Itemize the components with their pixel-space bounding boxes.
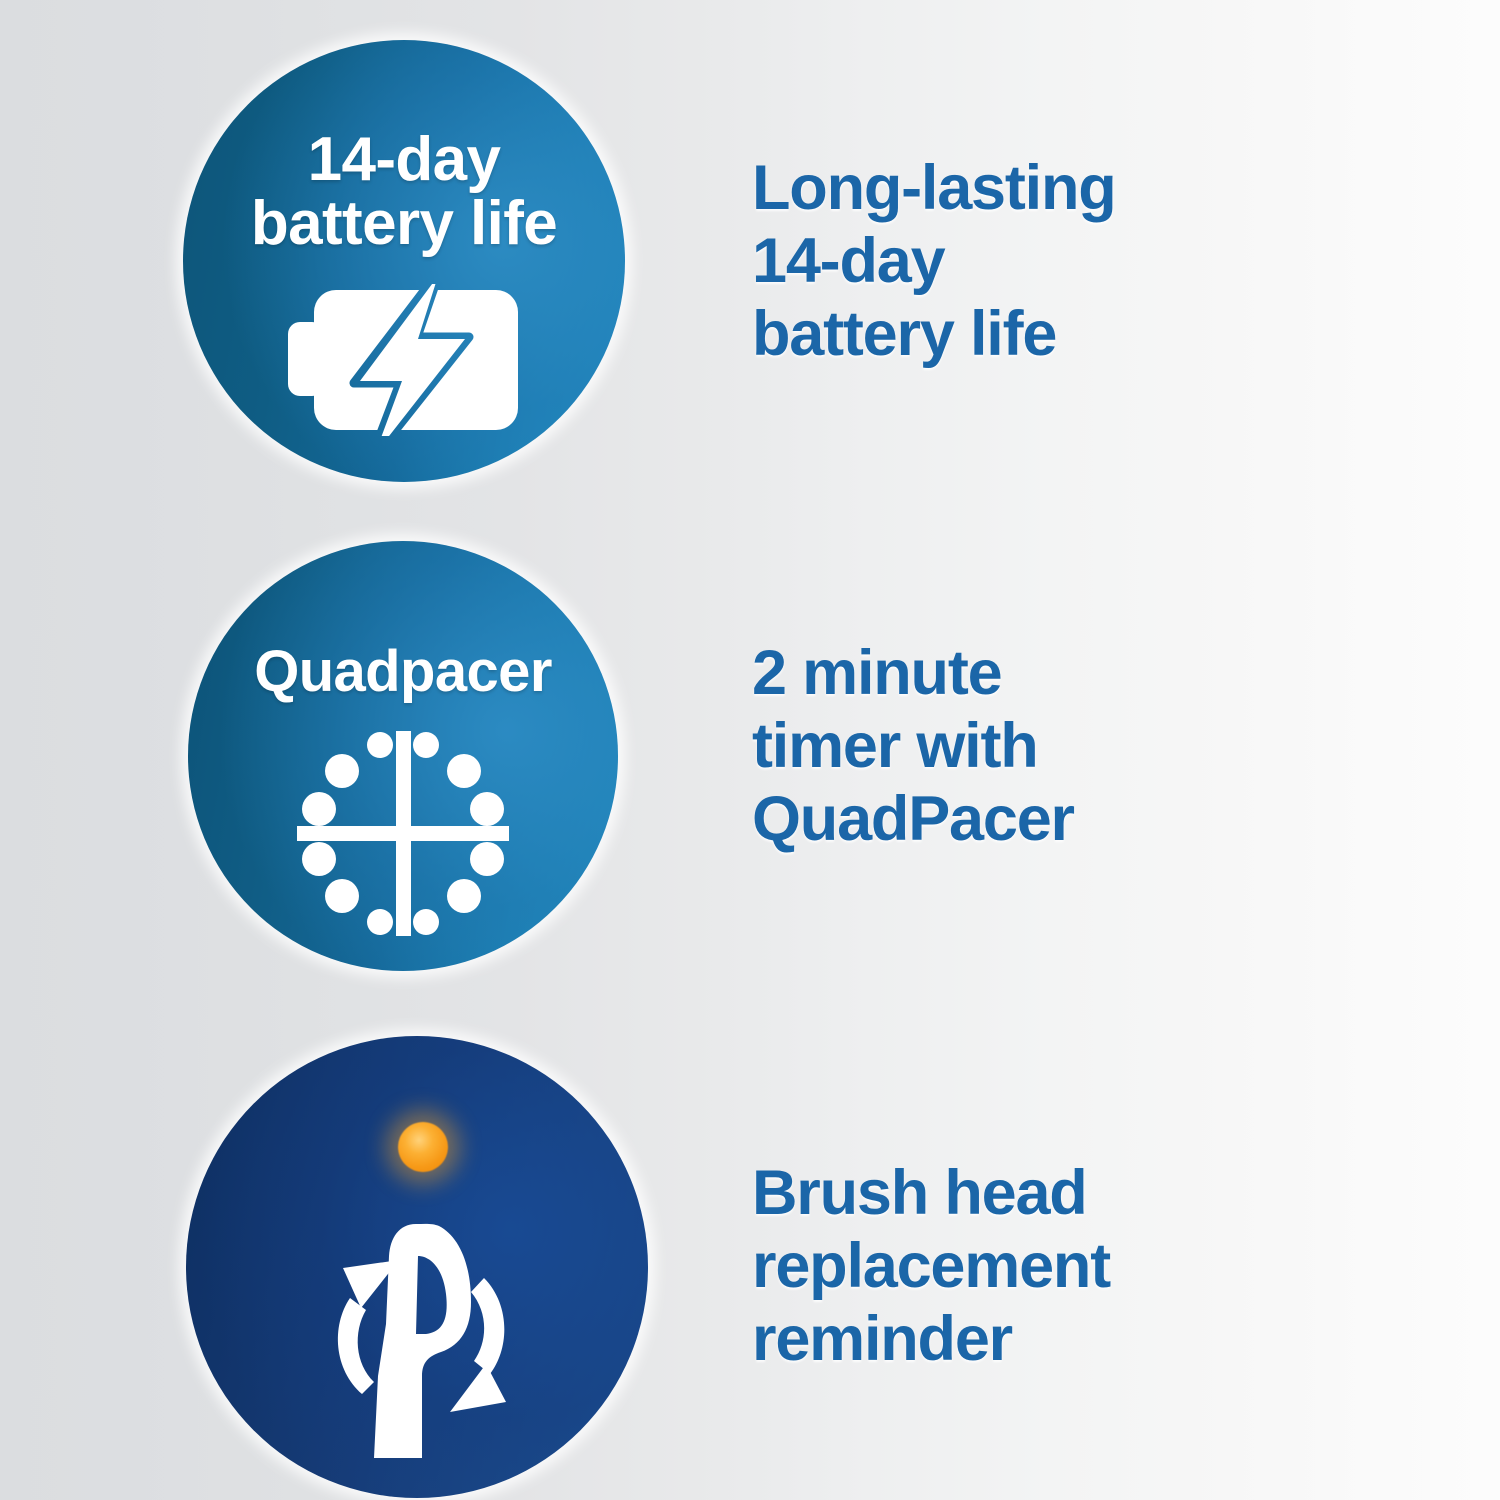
quadpacer-cross-dots-icon <box>297 731 509 936</box>
badge-quadpacer-icon-slot <box>188 726 618 941</box>
battery-bolt-icon <box>288 284 520 436</box>
badge-battery-life: 14-day battery life <box>183 40 625 482</box>
brush-head-replacement-icon <box>298 1216 536 1466</box>
orange-reminder-light-icon <box>398 1122 448 1172</box>
badge-brush-head-icon-slot <box>186 1216 648 1466</box>
feature-headline-quadpacer: 2 minute timer with QuadPacer <box>752 637 1312 856</box>
feature-headline-brush-head-reminder: Brush head replacement reminder <box>752 1157 1312 1376</box>
badge-quadpacer: Quadpacer <box>188 541 618 971</box>
feature-headline-battery-life: Long-lasting 14-day battery life <box>752 152 1312 371</box>
badge-brush-head-reminder <box>186 1036 648 1498</box>
badge-battery-life-icon-slot <box>183 270 625 450</box>
infographic-canvas: 14-day battery life <box>0 0 1500 1500</box>
